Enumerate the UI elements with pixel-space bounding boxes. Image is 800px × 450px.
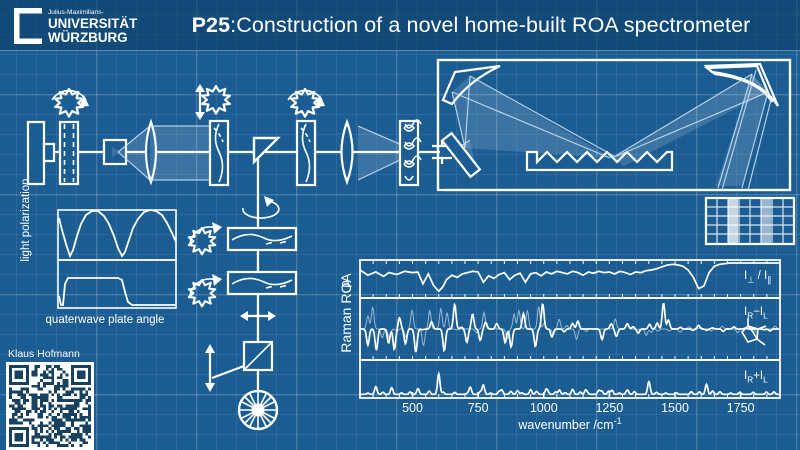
polarization-ylabel: light polarization xyxy=(20,166,32,274)
spectra-xtick-1500: 1500 xyxy=(661,401,689,415)
trace-label-raman: IR+IL xyxy=(744,370,768,384)
qr-code-canvas xyxy=(9,365,91,447)
spectra-xtick-1250: 1250 xyxy=(595,401,623,415)
panel-raman xyxy=(360,360,780,398)
polarization-curve-top xyxy=(59,210,176,256)
title-text: Construction of a novel home-built ROA s… xyxy=(236,13,750,38)
polarization-xlabel: quaterwave plate angle xyxy=(30,314,180,326)
molecule-icon xyxy=(742,318,766,345)
polarization-curve-bottom xyxy=(59,278,176,305)
trace-raman-sum xyxy=(360,374,780,394)
trace-roa-calculated xyxy=(360,307,780,345)
trace-label-depolarization: I⊥ / I∥ xyxy=(744,270,771,284)
logo-line2: UNIVERSITÄT xyxy=(48,16,138,31)
logo-line3: WÜRZBURG xyxy=(48,30,128,45)
spectra-xtick-1750: 1750 xyxy=(727,401,755,415)
trace-depolarization-ratio xyxy=(360,263,780,291)
polarization-plot xyxy=(14,206,180,330)
spectra-chart: ρ Raman ROA I⊥ / I∥ IR−IL IR+IL 50075010… xyxy=(332,256,794,442)
spectra-xtick-1000: 1000 xyxy=(530,401,558,415)
author-name: Klaus Hofmann xyxy=(6,348,114,360)
author-block: Klaus Hofmann xyxy=(6,348,114,450)
spectra-ylabel-roa: Raman ROA xyxy=(338,252,360,374)
qr-code[interactable] xyxy=(6,362,94,450)
spectra-xlabel: wavenumber /cm-1 xyxy=(360,416,780,432)
polarization-inset-chart: light polarization quaterwave plate angl… xyxy=(14,206,180,330)
page-title: P25: Construction of a novel home-built … xyxy=(150,0,792,50)
spectra-xtick-750: 750 xyxy=(468,401,489,415)
poster-number: P25 xyxy=(192,13,231,38)
header-bar: Julius-Maximilians- UNIVERSITÄT WÜRZBURG… xyxy=(0,0,800,51)
spectra-xtick-500: 500 xyxy=(402,401,423,415)
spectra-plot-area xyxy=(332,256,794,416)
logo-line1: Julius-Maximilians- xyxy=(48,9,104,16)
university-logo: Julius-Maximilians- UNIVERSITÄT WÜRZBURG xyxy=(8,4,148,48)
trace-label-roa: IR−IL xyxy=(744,306,768,320)
